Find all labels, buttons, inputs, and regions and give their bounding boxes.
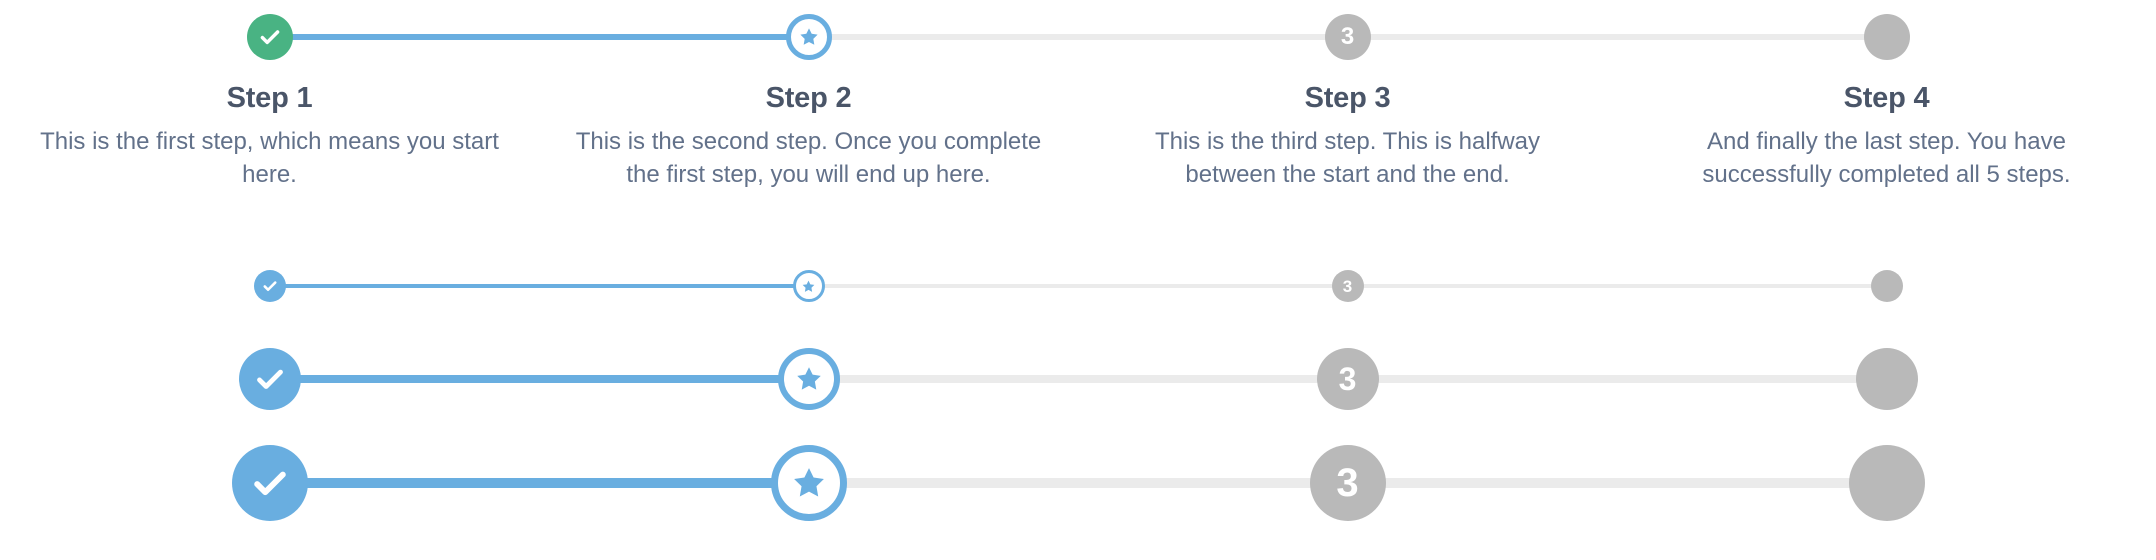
step-head-4 — [1617, 14, 2156, 60]
rail-right-2 — [809, 375, 1079, 383]
stepper-labeled: Step 1 This is the first step, which mea… — [0, 14, 2156, 192]
step-number: 3 — [1341, 25, 1354, 49]
step-number: 3 — [1343, 278, 1352, 295]
step-item-2[interactable] — [539, 270, 1078, 302]
step-item-1[interactable] — [0, 270, 539, 302]
rail-left-3 — [1078, 375, 1348, 383]
step-head-2 — [539, 270, 1078, 302]
rail-left-2 — [539, 375, 809, 383]
rail-left-4 — [1617, 478, 1887, 488]
step-node-2[interactable] — [771, 445, 847, 521]
rail-left-2 — [539, 34, 809, 40]
step-item-4[interactable] — [1617, 445, 2156, 521]
rail-left-4 — [1617, 34, 1887, 40]
star-icon — [794, 364, 824, 394]
step-node-1[interactable] — [254, 270, 286, 302]
step-node-4[interactable] — [1864, 14, 1910, 60]
rail-right-1 — [270, 478, 540, 488]
rail-right-2 — [809, 34, 1079, 40]
step-head-3: 3 — [1078, 445, 1617, 521]
step-title: Step 1 — [14, 82, 525, 115]
step-node-4[interactable] — [1856, 348, 1918, 410]
step-item-2[interactable]: Step 2 This is the second step. Once you… — [539, 14, 1078, 192]
stepper-large: 3 — [0, 445, 2156, 521]
step-head-4 — [1617, 348, 2156, 410]
step-item-3[interactable]: 3 — [1078, 348, 1617, 410]
step-head-2 — [539, 348, 1078, 410]
step-node-1[interactable] — [232, 445, 308, 521]
step-body-2: Step 2 This is the second step. Once you… — [539, 60, 1078, 192]
step-body-4: Step 4 And finally the last step. You ha… — [1617, 60, 2156, 192]
check-icon — [252, 361, 288, 397]
step-body-1: Step 1 This is the first step, which mea… — [0, 60, 539, 192]
step-title: Step 4 — [1631, 82, 2142, 115]
step-number: 3 — [1339, 363, 1357, 395]
step-title: Step 2 — [553, 82, 1064, 115]
step-head-1 — [0, 445, 539, 521]
stepper-medium: 3 — [0, 348, 2156, 410]
step-head-3: 3 — [1078, 270, 1617, 302]
step-description: And finally the last step. You have succ… — [1652, 126, 2122, 192]
step-body-3: Step 3 This is the third step. This is h… — [1078, 60, 1617, 192]
step-number: 3 — [1336, 463, 1358, 503]
rail-right-1 — [270, 375, 540, 383]
stepper-track: 3 — [0, 445, 2156, 521]
rail-right-2 — [809, 284, 1079, 288]
step-head-3: 3 — [1078, 14, 1617, 60]
rail-right-2 — [809, 478, 1079, 488]
step-item-3[interactable]: 3 — [1078, 270, 1617, 302]
step-item-3[interactable]: 3 Step 3 This is the third step. This is… — [1078, 14, 1617, 192]
step-item-4[interactable] — [1617, 348, 2156, 410]
rail-right-1 — [270, 34, 540, 40]
rail-right-1 — [270, 284, 540, 288]
rail-left-2 — [539, 478, 809, 488]
step-node-2[interactable] — [786, 14, 832, 60]
step-node-3[interactable]: 3 — [1310, 445, 1386, 521]
step-head-1 — [0, 348, 539, 410]
step-head-2 — [539, 14, 1078, 60]
star-icon — [790, 464, 828, 502]
step-node-2[interactable] — [778, 348, 840, 410]
step-node-2[interactable] — [793, 270, 825, 302]
step-item-1[interactable] — [0, 445, 539, 521]
rail-right-3 — [1348, 34, 1618, 40]
rail-right-3 — [1348, 284, 1618, 288]
step-head-1 — [0, 270, 539, 302]
step-item-3[interactable]: 3 — [1078, 445, 1617, 521]
rail-right-3 — [1348, 375, 1618, 383]
step-node-3[interactable]: 3 — [1332, 270, 1364, 302]
rail-right-3 — [1348, 478, 1618, 488]
step-head-4 — [1617, 445, 2156, 521]
rail-left-2 — [539, 284, 809, 288]
step-description: This is the second step. Once you comple… — [574, 126, 1044, 192]
step-item-2[interactable] — [539, 348, 1078, 410]
star-icon — [801, 279, 816, 294]
step-head-3: 3 — [1078, 348, 1617, 410]
step-node-4[interactable] — [1849, 445, 1925, 521]
step-item-2[interactable] — [539, 445, 1078, 521]
step-head-2 — [539, 445, 1078, 521]
rail-left-3 — [1078, 34, 1348, 40]
rail-left-3 — [1078, 478, 1348, 488]
rail-left-3 — [1078, 284, 1348, 288]
step-item-4[interactable]: Step 4 And finally the last step. You ha… — [1617, 14, 2156, 192]
stepper-small: 3 — [0, 270, 2156, 302]
step-description: This is the first step, which means you … — [35, 126, 505, 192]
stepper-demo-page: Step 1 This is the first step, which mea… — [0, 0, 2156, 560]
step-title: Step 3 — [1092, 82, 1603, 115]
rail-left-4 — [1617, 284, 1887, 288]
stepper-track: 3 — [0, 270, 2156, 302]
step-node-3[interactable]: 3 — [1317, 348, 1379, 410]
check-icon — [261, 277, 279, 295]
step-node-1[interactable] — [247, 14, 293, 60]
rail-left-4 — [1617, 375, 1887, 383]
stepper-track: 3 — [0, 348, 2156, 410]
step-node-4[interactable] — [1871, 270, 1903, 302]
step-item-1[interactable]: Step 1 This is the first step, which mea… — [0, 14, 539, 192]
stepper-track: Step 1 This is the first step, which mea… — [0, 14, 2156, 192]
step-node-3[interactable]: 3 — [1325, 14, 1371, 60]
step-head-1 — [0, 14, 539, 60]
check-icon — [257, 24, 283, 50]
step-description: This is the third step. This is halfway … — [1113, 126, 1583, 192]
step-node-1[interactable] — [239, 348, 301, 410]
star-icon — [798, 26, 820, 48]
step-item-4[interactable] — [1617, 270, 2156, 302]
step-item-1[interactable] — [0, 348, 539, 410]
check-icon — [248, 461, 292, 505]
step-head-4 — [1617, 270, 2156, 302]
